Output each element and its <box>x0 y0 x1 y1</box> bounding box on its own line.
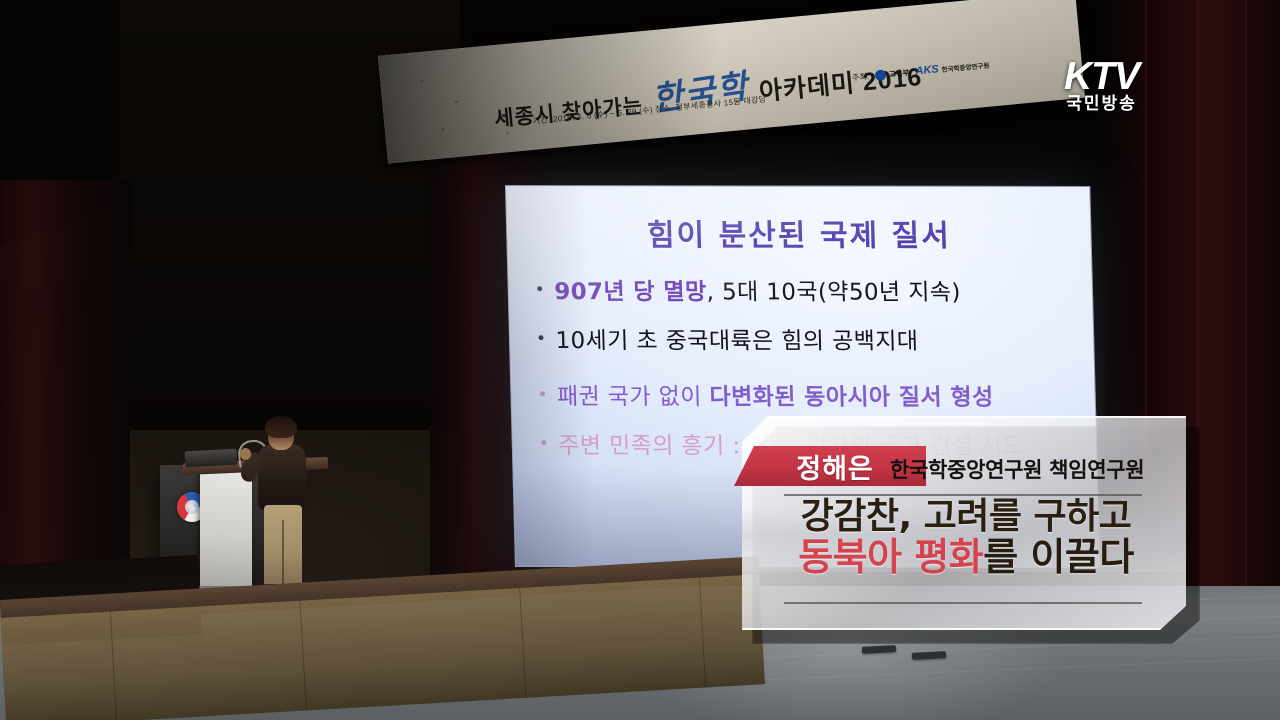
headline-line-1: 강감찬, 고려를 구하고 <box>742 498 1190 537</box>
headline-block: 강감찬, 고려를 구하고 동북아 평화를 이끌다 <box>742 498 1190 578</box>
headline-line-2-dark: 를 이끌다 <box>983 535 1134 579</box>
lower-third-graphic: 정해은 한국학중앙연구원 책임연구원 강감찬, 고려를 구하고 동북아 평화를 … <box>742 416 1190 638</box>
headline-line-2: 동북아 평화를 이끌다 <box>742 537 1190 578</box>
podium-front-panel <box>200 468 252 595</box>
speaker-name: 정해은 <box>796 447 874 486</box>
presenter-hand <box>240 448 251 460</box>
headline-line-2-red: 동북아 평화 <box>798 535 983 579</box>
channel-logo: KTV 국민방송 <box>1064 58 1139 115</box>
presenter-torso <box>258 444 306 510</box>
headline-rule-bottom <box>784 602 1142 604</box>
presenter-hair <box>265 416 297 438</box>
presenter-leg-split <box>282 520 284 586</box>
taegeuk-emblem-center <box>185 500 199 514</box>
laptop-on-podium <box>185 449 238 468</box>
ktv-wordmark: KTV <box>1064 58 1139 95</box>
ktv-subtitle: 국민방송 <box>1064 95 1139 115</box>
speaker-affiliation: 한국학중앙연구원 책임연구원 <box>890 454 1144 484</box>
broadcast-frame: 세종시 찾아가는 한국학 아카데미 2016 기간. 2016. 4. 6 (수… <box>0 0 1280 720</box>
